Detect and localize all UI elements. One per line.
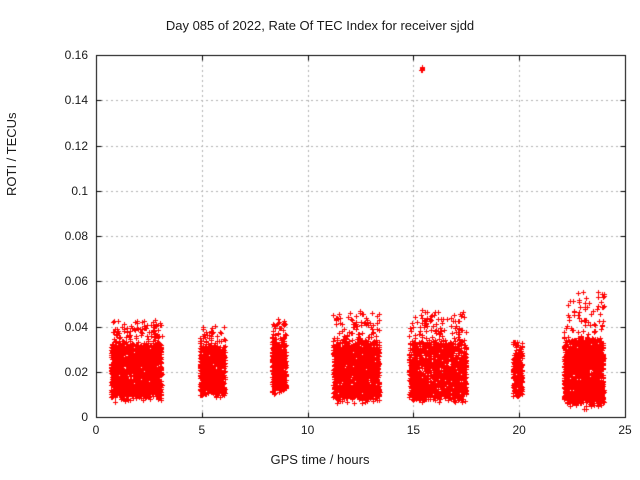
- y-tick-label: 0.12: [65, 139, 88, 153]
- y-tick-label: 0.14: [65, 93, 88, 107]
- roti-scatter-plot: [0, 0, 640, 480]
- x-tick-label: 15: [407, 423, 420, 437]
- y-tick-label: 0: [81, 410, 88, 424]
- y-tick-label: 0.06: [65, 274, 88, 288]
- x-tick-label: 5: [198, 423, 205, 437]
- y-tick-label: 0.04: [65, 320, 88, 334]
- page-title: Day 085 of 2022, Rate Of TEC Index for r…: [0, 18, 640, 33]
- y-tick-label: 0.1: [71, 184, 88, 198]
- x-tick-label: 20: [513, 423, 526, 437]
- y-axis-label: ROTI / TECUs: [4, 112, 19, 196]
- plot-page: Day 085 of 2022, Rate Of TEC Index for r…: [0, 0, 640, 480]
- x-tick-label: 10: [301, 423, 314, 437]
- y-tick-label: 0.08: [65, 229, 88, 243]
- x-axis-label: GPS time / hours: [0, 452, 640, 467]
- x-tick-label: 25: [618, 423, 631, 437]
- y-tick-label: 0.16: [65, 48, 88, 62]
- x-tick-label: 0: [93, 423, 100, 437]
- y-tick-label: 0.02: [65, 365, 88, 379]
